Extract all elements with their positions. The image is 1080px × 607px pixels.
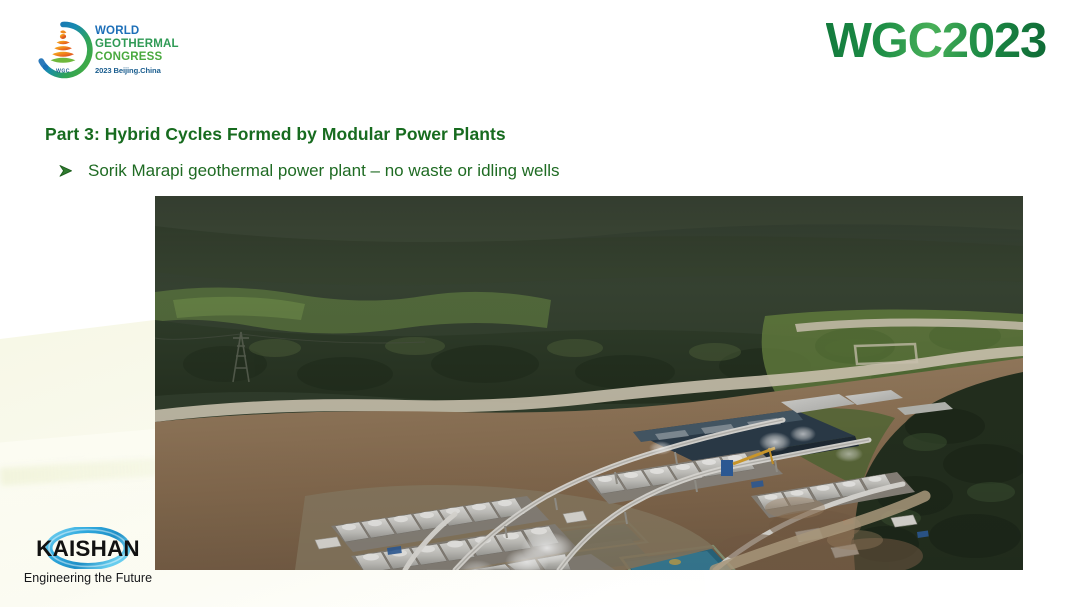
page-title: Part 3: Hybrid Cycles Formed by Modular … <box>45 124 506 145</box>
svg-text:WGC: WGC <box>56 68 70 74</box>
bullet-text: Sorik Marapi geothermal power plant – no… <box>88 160 560 182</box>
sorik-marapi-plant-photo <box>155 196 1023 570</box>
bullet-item: Sorik Marapi geothermal power plant – no… <box>58 160 560 182</box>
congress-logo-line-congress: CONGRESS <box>95 51 175 64</box>
arrow-bullet-icon <box>58 160 74 182</box>
congress-logo-text: WORLD GEOTHERMAL CONGRESS 2023 Beijing.C… <box>95 25 175 75</box>
wgc2023-wordmark: WGC2023 <box>826 17 1046 66</box>
kaishan-tagline: Engineering the Future <box>18 571 158 585</box>
slide-canvas: WGC WORLD GEOTHERMAL CONGRESS 2023 Beiji… <box>0 0 1080 607</box>
congress-logo-subtitle: 2023 Beijing.China <box>95 66 175 75</box>
congress-logo-line-world: WORLD <box>95 25 175 38</box>
kaishan-logo: KAISHAN Engineering the Future <box>18 527 158 593</box>
sorik-marapi-plant-photo-frame <box>155 196 1023 570</box>
congress-logo: WGC WORLD GEOTHERMAL CONGRESS 2023 Beiji… <box>33 18 173 84</box>
congress-logo-line-geothermal: GEOTHERMAL <box>95 38 175 51</box>
kaishan-wordmark: KAISHAN <box>17 536 160 562</box>
congress-logo-mark-icon: WGC <box>33 20 93 80</box>
